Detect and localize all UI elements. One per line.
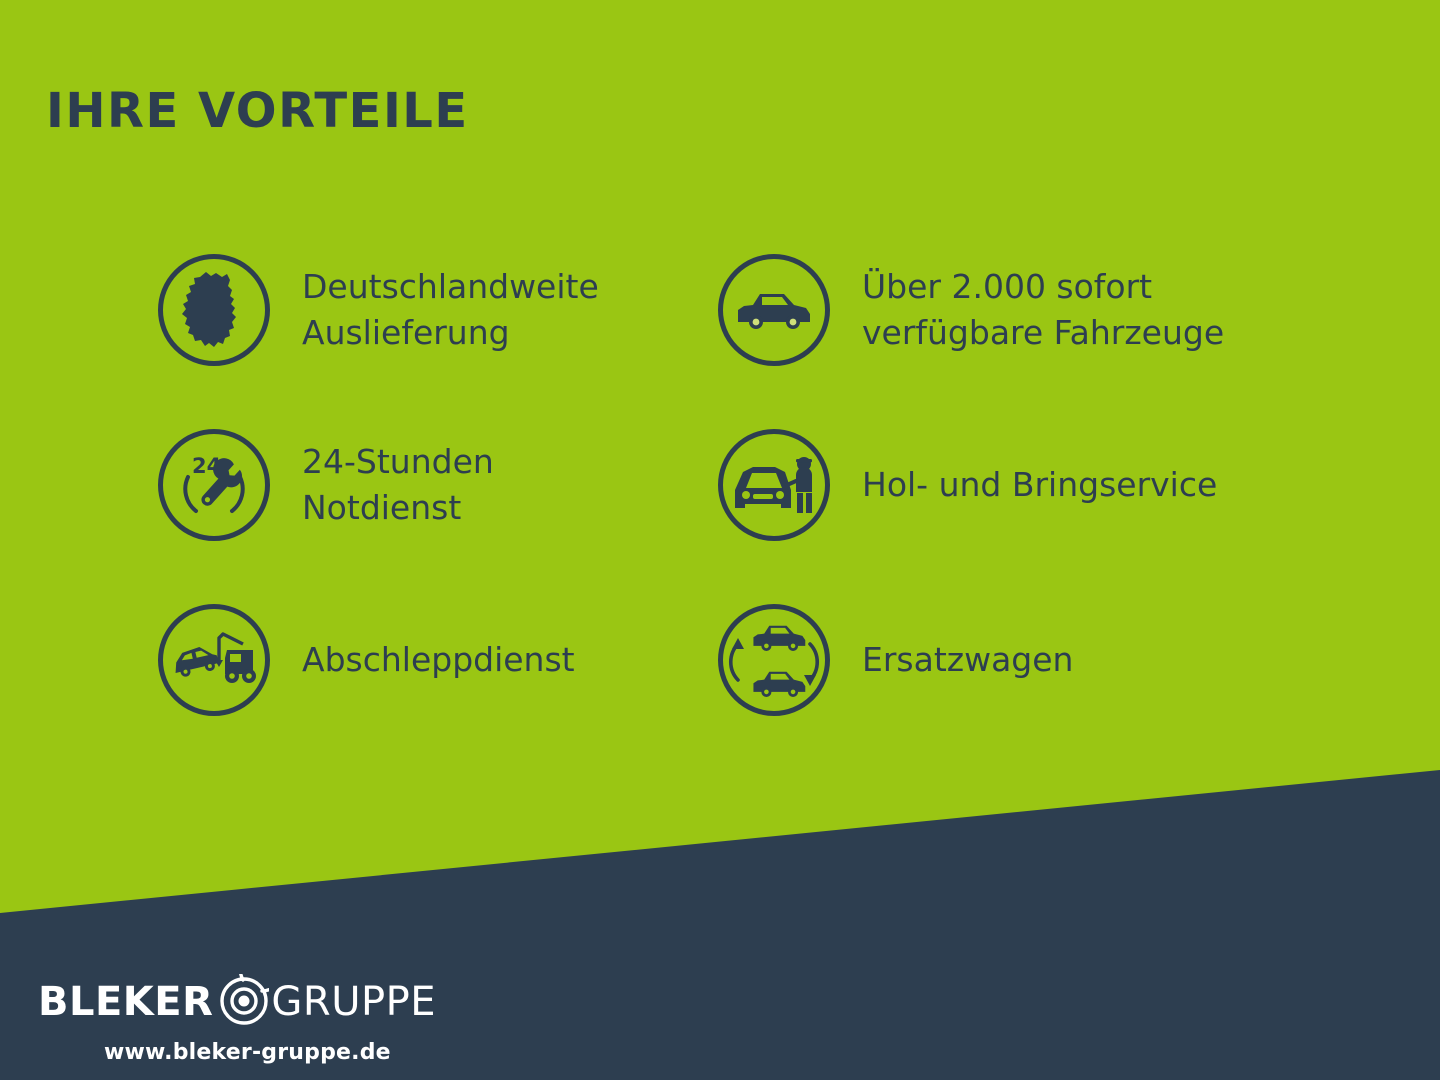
footer: BLEKER GRUPPE www.bleker-gruppe.de — [0, 910, 1440, 1080]
page-title: IHRE VORTEILE — [46, 87, 469, 135]
benefit-item-24-stunden-notdienst[interactable]: 24 24-Stunden Notdienst — [158, 397, 718, 572]
benefit-item-ersatzwagen[interactable]: Ersatzwagen — [718, 572, 1338, 747]
benefit-label: Hol- und Bringservice — [862, 462, 1217, 508]
spiral-circle-logo-icon — [217, 974, 269, 1030]
car-side-icon — [718, 254, 830, 366]
slide: IHRE VORTEILE Deutschlandweite Ausliefer… — [0, 0, 1440, 1080]
benefit-item-abschleppdienst[interactable]: Abschleppdienst — [158, 572, 718, 747]
brand-logo[interactable]: BLEKER GRUPPE — [38, 974, 436, 1030]
benefit-label: Deutschlandweite Auslieferung — [302, 264, 599, 355]
benefit-item-deutschlandweite-auslieferung[interactable]: Deutschlandweite Auslieferung — [158, 222, 718, 397]
benefit-label: 24-Stunden Notdienst — [302, 439, 494, 530]
benefit-item-verfuegbare-fahrzeuge[interactable]: Über 2.000 sofort verfügbare Fahrzeuge — [718, 222, 1338, 397]
germany-map-icon — [158, 254, 270, 366]
benefit-label: Über 2.000 sofort verfügbare Fahrzeuge — [862, 264, 1224, 355]
tow-truck-icon — [158, 604, 270, 716]
logo-primary-text: BLEKER — [38, 982, 213, 1022]
benefit-item-hol-und-bringservice[interactable]: Hol- und Bringservice — [718, 397, 1338, 572]
benefits-left-column: Deutschlandweite Auslieferung 24 24-Stun… — [158, 222, 718, 747]
24-hour-wrench-icon: 24 — [158, 429, 270, 541]
benefit-label: Abschleppdienst — [302, 637, 575, 683]
car-with-person-icon — [718, 429, 830, 541]
benefits-right-column: Über 2.000 sofort verfügbare Fahrzeuge — [718, 222, 1338, 747]
two-cars-exchange-icon — [718, 604, 830, 716]
logo-secondary-text: GRUPPE — [271, 982, 436, 1022]
benefit-label: Ersatzwagen — [862, 637, 1073, 683]
website-url[interactable]: www.bleker-gruppe.de — [104, 1042, 391, 1064]
